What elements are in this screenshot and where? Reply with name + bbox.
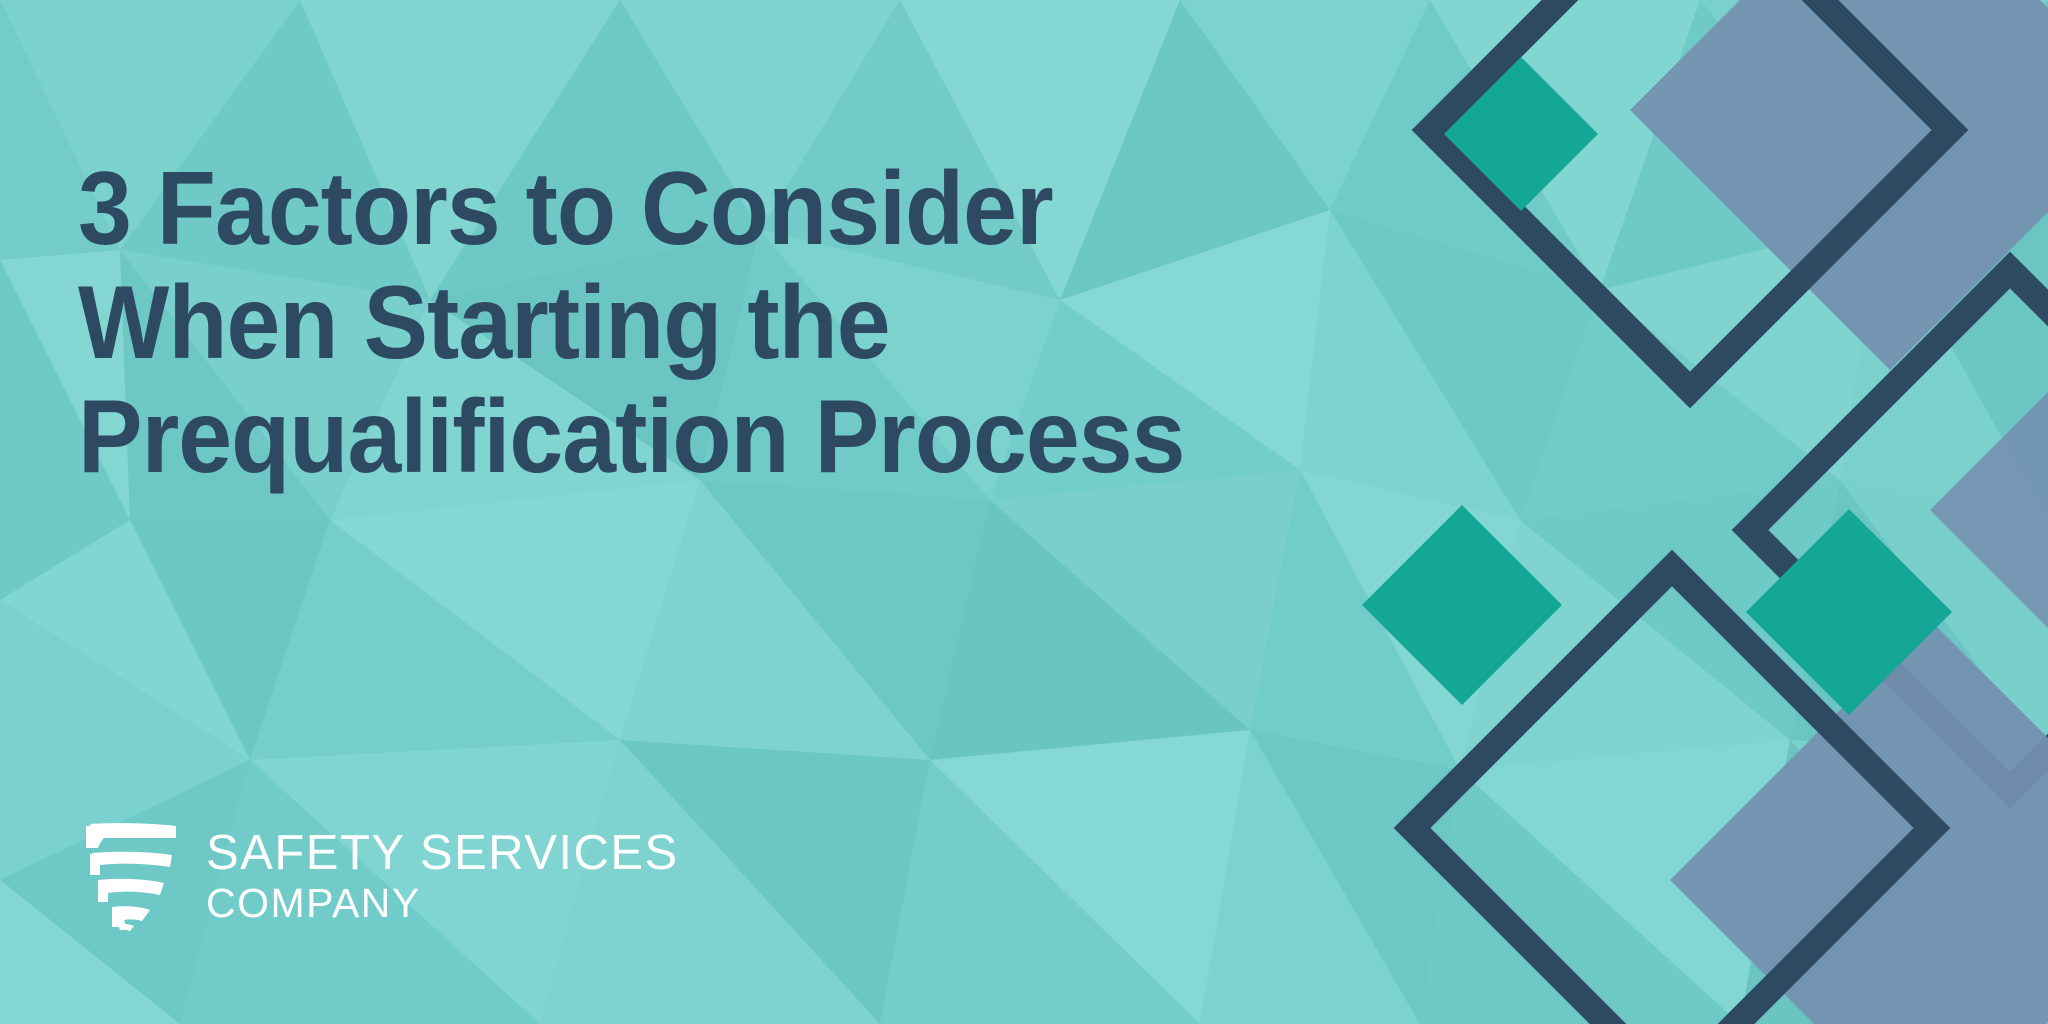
logo-wordmark: SAFETY SERVICES COMPANY	[206, 826, 679, 927]
logo-line-company: COMPANY	[206, 880, 679, 927]
shield-icon	[82, 820, 180, 932]
blog-header-banner: 3 Factors to Consider When Starting the …	[0, 0, 2048, 1024]
headline-line-2: When Starting the	[78, 266, 1278, 380]
headline-line-3: Prequalification Process	[78, 380, 1278, 494]
page-title: 3 Factors to Consider When Starting the …	[78, 152, 1368, 494]
headline-line-1: 3 Factors to Consider	[78, 152, 1278, 266]
diamond-filled-slate-top	[1630, 0, 2048, 370]
brand-logo: SAFETY SERVICES COMPANY	[82, 820, 679, 932]
diamond-filled-teal-bottom	[1362, 505, 1562, 705]
logo-line-safety-services: SAFETY SERVICES	[206, 826, 679, 880]
